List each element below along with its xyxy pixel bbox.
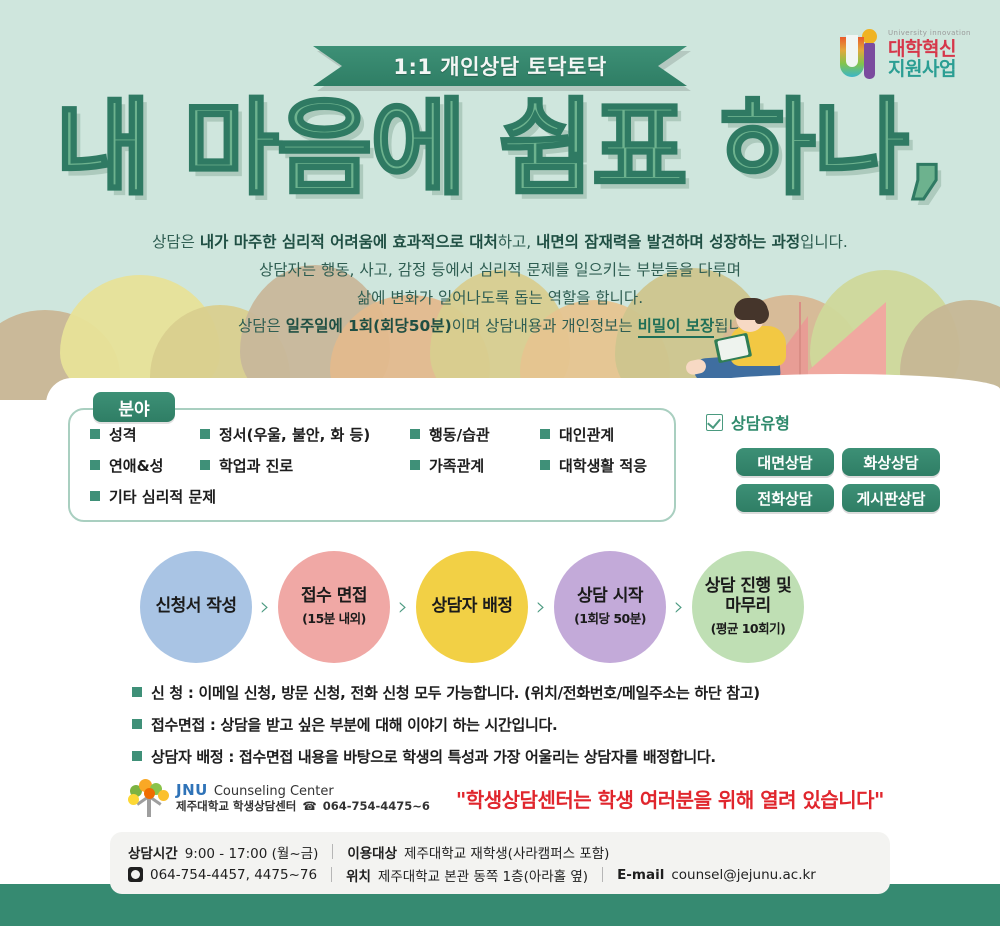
bullet-square-icon bbox=[132, 687, 142, 697]
counseling-types-title: 상담유형 bbox=[731, 410, 790, 434]
bullet-square-icon bbox=[90, 491, 100, 501]
description-line: 상담은 내가 마주한 심리적 어려움에 효과적으로 대처하고, 내면의 잠재력을… bbox=[0, 232, 1000, 253]
description-fragment: 이며 상담내용과 개인정보는 bbox=[452, 317, 638, 335]
flow-step: 상담자 배정 bbox=[416, 551, 528, 663]
poster-root: 1:1 개인상담 토닥토닥 University innovation 대학혁신… bbox=[0, 0, 1000, 926]
chevron-right-icon: › bbox=[390, 592, 416, 622]
counseling-type-button[interactable]: 전화상담 bbox=[736, 484, 834, 512]
footer-value: 제주대학교 재학생(사라캠퍼스 포함) bbox=[404, 842, 609, 862]
footer-row-2: 064-754-4457, 4475~76위치제주대학교 본관 동쪽 1층(아라… bbox=[128, 863, 872, 886]
field-item: 대인관계 bbox=[540, 424, 614, 445]
field-item: 기타 심리적 문제 bbox=[90, 486, 216, 507]
ui-gradient-icon bbox=[836, 29, 882, 81]
note-text: 상담자 배정 : 접수면접 내용을 바탕으로 학생의 특성과 가장 어울리는 상… bbox=[151, 746, 716, 767]
bullet-square-icon bbox=[540, 429, 550, 439]
logo-text-block: University innovation 대학혁신 지원사업 bbox=[888, 30, 971, 79]
field-label: 대학생활 적응 bbox=[559, 455, 647, 476]
person-hair-back bbox=[755, 304, 769, 324]
field-label: 연애&성 bbox=[109, 455, 163, 476]
logo-en-text: University innovation bbox=[888, 30, 971, 37]
bullet-square-icon bbox=[90, 429, 100, 439]
footer-label: 상담시간 bbox=[128, 842, 178, 862]
counseling-types-header: 상담유형 bbox=[706, 410, 790, 434]
description-fragment: 상담자는 행동, 사고, 감정 등에서 심리적 문제를 일으키는 부분들을 다루… bbox=[259, 261, 741, 279]
jnu-branding-row: JNU Counseling Center 제주대학교 학생상담센터 ☎ 064… bbox=[128, 778, 908, 818]
logo-kr-line2: 지원사업 bbox=[888, 60, 971, 80]
field-item: 대학생활 적응 bbox=[540, 455, 647, 476]
flow-step-title: 상담 시작 bbox=[567, 587, 653, 607]
fields-row: 성격정서(우울, 불안, 화 등)행동/습관대인관계 bbox=[90, 424, 690, 444]
field-item: 가족관계 bbox=[410, 455, 484, 476]
checkbox-icon bbox=[706, 414, 723, 431]
flow-step-title: 신청서 작성 bbox=[145, 597, 246, 617]
counseling-type-button[interactable]: 게시판상담 bbox=[842, 484, 940, 512]
flow-step-title: 상담 진행 및 마무리 bbox=[692, 577, 804, 616]
field-item: 연애&성 bbox=[90, 455, 163, 476]
jnu-line1: JNU Counseling Center bbox=[176, 782, 430, 800]
footer-segment: 064-754-4457, 4475~76 bbox=[128, 867, 317, 883]
note-item: 신 청 : 이메일 신청, 방문 신청, 전화 신청 모두 가능합니다. (위치… bbox=[132, 682, 892, 703]
field-label: 가족관계 bbox=[429, 455, 484, 476]
counseling-types-buttons: 대면상담화상상담전화상담게시판상담 bbox=[736, 448, 946, 512]
logo-kr-line1: 대학혁신 bbox=[888, 40, 971, 60]
tent-icon bbox=[800, 302, 886, 378]
field-label: 정서(우울, 불안, 화 등) bbox=[219, 424, 370, 445]
footer-separator bbox=[332, 844, 333, 859]
jnu-abbr: JNU bbox=[176, 782, 208, 799]
tent-ridge bbox=[799, 302, 801, 378]
description-fragment: 상담은 bbox=[238, 317, 286, 335]
footer-segment: 위치제주대학교 본관 동쪽 1층(아라홀 옆) bbox=[346, 865, 588, 885]
footer-segment: E-mailcounsel@jejunu.ac.kr bbox=[617, 867, 816, 883]
footer-segment: 상담시간9:00 - 17:00 (월~금) bbox=[128, 842, 318, 862]
tree-leaf bbox=[144, 788, 155, 799]
flow-step-subtitle: (평균 10회기) bbox=[711, 618, 786, 637]
chevron-right-icon: › bbox=[666, 592, 692, 622]
footer-label: E-mail bbox=[617, 867, 664, 883]
description-fragment: 삶에 변화가 일어나도록 돕는 역할을 합니다. bbox=[357, 289, 643, 307]
jnu-kr-name: 제주대학교 학생상담센터 bbox=[176, 800, 296, 813]
field-item: 정서(우울, 불안, 화 등) bbox=[200, 424, 370, 445]
footer-value: 9:00 - 17:00 (월~금) bbox=[185, 842, 319, 862]
ribbon-banner: 1:1 개인상담 토닥토닥 bbox=[313, 46, 687, 88]
fields-tag: 분야 bbox=[93, 392, 175, 422]
footer-separator bbox=[602, 867, 603, 882]
flow-step-title: 접수 면접 bbox=[291, 587, 377, 607]
tree-logo-icon bbox=[128, 779, 170, 817]
fields-row: 기타 심리적 문제 bbox=[90, 486, 690, 506]
chevron-right-icon: › bbox=[528, 592, 554, 622]
page-title: 내 마음에 쉼표 하나, bbox=[0, 96, 1000, 200]
counseling-type-button[interactable]: 화상상담 bbox=[842, 448, 940, 476]
footer-row-1: 상담시간9:00 - 17:00 (월~금)이용대상제주대학교 재학생(사라캠퍼… bbox=[128, 840, 872, 863]
university-innovation-logo: University innovation 대학혁신 지원사업 bbox=[836, 24, 984, 86]
bullet-square-icon bbox=[90, 460, 100, 470]
logo-u-icon bbox=[840, 37, 864, 77]
flow-step: 상담 시작(1회당 50분) bbox=[554, 551, 666, 663]
jnu-text-block: JNU Counseling Center 제주대학교 학생상담센터 ☎ 064… bbox=[176, 782, 430, 813]
flow-step: 접수 면접(15분 내외) bbox=[278, 551, 390, 663]
field-item: 성격 bbox=[90, 424, 137, 445]
footer-separator bbox=[331, 867, 332, 882]
flow-step-title: 상담자 배정 bbox=[421, 597, 522, 617]
footer-value: counsel@jejunu.ac.kr bbox=[671, 867, 816, 883]
jnu-line2: 제주대학교 학생상담센터 ☎ 064-754-4475~6 bbox=[176, 800, 430, 813]
description-line: 상담자는 행동, 사고, 감정 등에서 심리적 문제를 일으키는 부분들을 다루… bbox=[0, 260, 1000, 281]
bullet-square-icon bbox=[132, 719, 142, 729]
counseling-type-button[interactable]: 대면상담 bbox=[736, 448, 834, 476]
fields-list: 성격정서(우울, 불안, 화 등)행동/습관대인관계연애&성학업과 진로가족관계… bbox=[90, 424, 690, 517]
description-fragment: 내면의 잠재력을 발견하며 성장하는 과정 bbox=[536, 233, 800, 251]
fields-row: 연애&성학업과 진로가족관계대학생활 적응 bbox=[90, 455, 690, 475]
footer-label: 이용대상 bbox=[347, 842, 397, 862]
logo-i-icon bbox=[864, 43, 875, 79]
footer-value: 제주대학교 본관 동쪽 1층(아라홀 옆) bbox=[378, 865, 588, 885]
tree-leaf bbox=[128, 794, 139, 805]
description-fragment: 내가 마주한 심리적 어려움에 효과적으로 대처 bbox=[200, 233, 498, 251]
jnu-en-name: Counseling Center bbox=[214, 785, 334, 800]
footer-contact-bar: 상담시간9:00 - 17:00 (월~금)이용대상제주대학교 재학생(사라캠퍼… bbox=[110, 832, 890, 894]
description-fragment: 일주일에 1회(회당50분) bbox=[286, 317, 452, 335]
ribbon-label: 1:1 개인상담 토닥토닥 bbox=[393, 51, 606, 81]
footer-value: 064-754-4457, 4475~76 bbox=[150, 867, 317, 883]
field-label: 행동/습관 bbox=[429, 424, 490, 445]
ribbon-body: 1:1 개인상담 토닥토닥 bbox=[313, 46, 687, 86]
description-fragment: 하고, bbox=[498, 233, 536, 251]
tree-leaf bbox=[158, 790, 169, 801]
field-label: 성격 bbox=[109, 424, 137, 445]
jnu-phone: 064-754-4475~6 bbox=[323, 800, 430, 813]
note-item: 상담자 배정 : 접수면접 내용을 바탕으로 학생의 특성과 가장 어울리는 상… bbox=[132, 746, 892, 767]
process-flow: 신청서 작성›접수 면접(15분 내외)›상담자 배정›상담 시작(1회당 50… bbox=[140, 546, 880, 668]
flow-step-subtitle: (1회당 50분) bbox=[574, 608, 646, 627]
flow-step-subtitle: (15분 내외) bbox=[302, 608, 366, 627]
note-text: 신 청 : 이메일 신청, 방문 신청, 전화 신청 모두 가능합니다. (위치… bbox=[151, 682, 760, 703]
bullet-square-icon bbox=[410, 429, 420, 439]
flow-step: 신청서 작성 bbox=[140, 551, 252, 663]
logo-dot-icon bbox=[862, 29, 877, 44]
field-item: 행동/습관 bbox=[410, 424, 490, 445]
bullet-square-icon bbox=[200, 460, 210, 470]
process-notes: 신 청 : 이메일 신청, 방문 신청, 전화 신청 모두 가능합니다. (위치… bbox=[132, 682, 892, 778]
footer-segment: 이용대상제주대학교 재학생(사라캠퍼스 포함) bbox=[347, 842, 609, 862]
bullet-square-icon bbox=[410, 460, 420, 470]
field-label: 대인관계 bbox=[559, 424, 614, 445]
phone-icon bbox=[128, 867, 143, 882]
field-label: 기타 심리적 문제 bbox=[109, 486, 216, 507]
note-text: 접수면접 : 상담을 받고 싶은 부분에 대해 이야기 하는 시간입니다. bbox=[151, 714, 557, 735]
bullet-square-icon bbox=[540, 460, 550, 470]
flow-step: 상담 진행 및 마무리(평균 10회기) bbox=[692, 551, 804, 663]
slogan-text: "학생상담센터는 학생 여러분을 위해 열려 있습니다" bbox=[456, 784, 884, 813]
field-item: 학업과 진로 bbox=[200, 455, 293, 476]
telephone-icon: ☎ bbox=[302, 800, 316, 813]
bullet-square-icon bbox=[200, 429, 210, 439]
description-fragment: 입니다. bbox=[800, 233, 848, 251]
footer-label: 위치 bbox=[346, 865, 371, 885]
field-label: 학업과 진로 bbox=[219, 455, 293, 476]
chevron-right-icon: › bbox=[252, 592, 278, 622]
note-item: 접수면접 : 상담을 받고 싶은 부분에 대해 이야기 하는 시간입니다. bbox=[132, 714, 892, 735]
bullet-square-icon bbox=[132, 751, 142, 761]
description-fragment: 상담은 bbox=[152, 233, 200, 251]
